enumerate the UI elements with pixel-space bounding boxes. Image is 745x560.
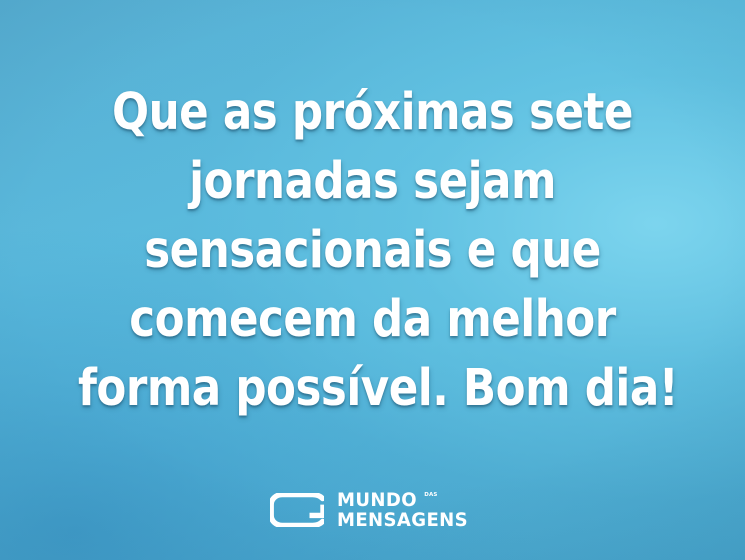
quote-line-3: sensacionais e que — [78, 216, 667, 285]
brand-superscript-das: DAS — [424, 490, 437, 498]
brand-wordmark: MUNDO DAS MENSAGENS — [337, 490, 475, 530]
quote-line-1: Que as próximas sete — [78, 78, 667, 147]
quote-text-block: Que as próximas sete jornadas sejam sens… — [0, 78, 745, 423]
brand-name-mensagens: MENSAGENS — [337, 510, 468, 530]
brand-wordmark-row-2: MENSAGENS — [337, 510, 475, 530]
quote-line-2: jornadas sejam — [78, 147, 667, 216]
brand-logo: MUNDO DAS MENSAGENS — [0, 490, 745, 530]
speech-bubble-icon — [270, 493, 324, 527]
brand-name-mundo: MUNDO — [337, 490, 417, 510]
brand-wordmark-row-1: MUNDO DAS — [337, 490, 475, 510]
quote-line-4: comecem da melhor — [78, 285, 667, 354]
quote-card: Que as próximas sete jornadas sejam sens… — [0, 0, 745, 560]
quote-line-5: forma possível. Bom dia! — [78, 354, 667, 423]
